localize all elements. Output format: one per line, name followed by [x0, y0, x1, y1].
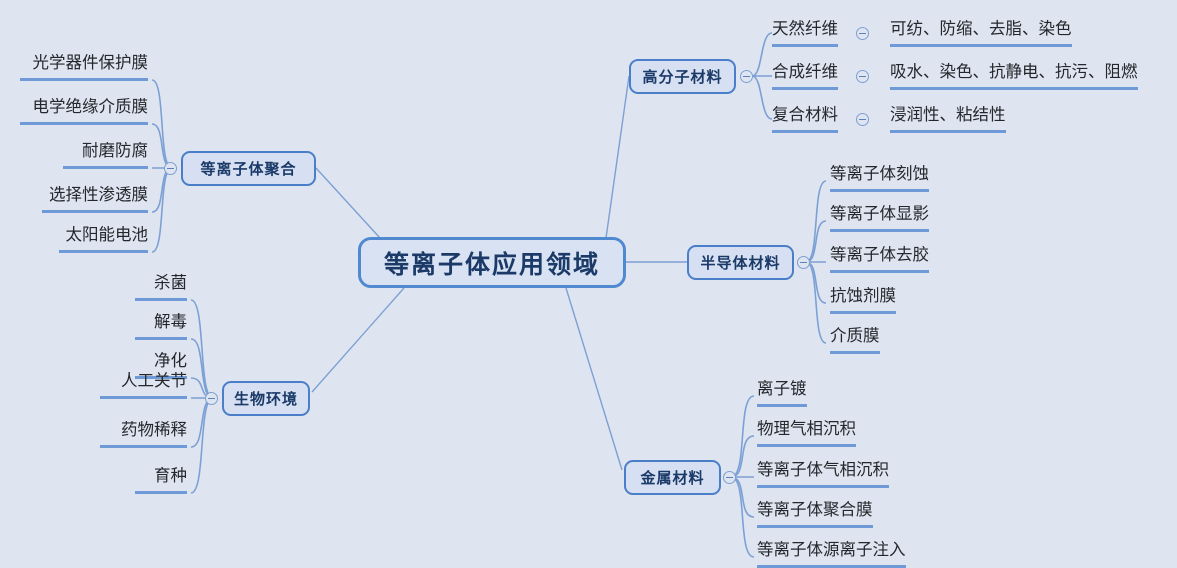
- leaf-ion-plating[interactable]: 离子镀: [757, 378, 807, 407]
- leaf-resist-film[interactable]: 抗蚀剂膜: [830, 285, 896, 314]
- leaf-label: 育种: [154, 467, 187, 485]
- leaf-label: 净化: [154, 352, 187, 370]
- leaf-plasma-developing[interactable]: 等离子体显影: [830, 203, 929, 232]
- leaf-pvd[interactable]: 物理气相沉积: [757, 418, 856, 447]
- leaf-wear-corrosion-resistance[interactable]: 耐磨防腐: [63, 140, 148, 169]
- leaf-synthetic-fiber-detail[interactable]: 吸水、染色、抗静电、抗污、阻燃: [890, 61, 1138, 90]
- leaf-label: 抗蚀剂膜: [830, 287, 896, 305]
- branch-node-plasma-polymerization[interactable]: 等离子体聚合: [181, 151, 316, 186]
- minus-circle-icon[interactable]: [856, 27, 869, 40]
- branch-node-bio-environment[interactable]: 生物环境: [222, 381, 310, 416]
- leaf-label: 合成纤维: [772, 63, 838, 81]
- branch-node-polymer[interactable]: 高分子材料: [629, 59, 736, 94]
- leaf-label: 药物稀释: [121, 421, 187, 439]
- minus-circle-icon[interactable]: [856, 113, 869, 126]
- leaf-label: 介质膜: [830, 327, 880, 345]
- branch-node-metal-label: 金属材料: [640, 467, 704, 488]
- leaf-label: 解毒: [154, 313, 187, 331]
- branch-node-semiconductor[interactable]: 半导体材料: [687, 245, 794, 280]
- leaf-plasma-cvd[interactable]: 等离子体气相沉积: [757, 459, 889, 488]
- mindmap-canvas: 等离子体应用领域 高分子材料 天然纤维 可纺、防缩、去脂、染色 合成纤维 吸水、…: [0, 0, 1177, 568]
- root-node-label: 等离子体应用领域: [384, 245, 600, 281]
- leaf-solar-cell[interactable]: 太阳能电池: [59, 224, 148, 253]
- leaf-label: 等离子体去胶: [830, 246, 929, 264]
- leaf-detail-label: 吸水、染色、抗静电、抗污、阻燃: [890, 63, 1138, 81]
- minus-circle-icon[interactable]: [856, 70, 869, 83]
- minus-circle-icon[interactable]: [740, 70, 753, 83]
- leaf-label: 等离子体气相沉积: [757, 461, 889, 479]
- minus-circle-icon[interactable]: [205, 392, 218, 405]
- leaf-label: 等离子体源离子注入: [757, 541, 906, 559]
- minus-circle-icon[interactable]: [723, 471, 736, 484]
- leaf-sterilization[interactable]: 杀菌: [135, 272, 187, 301]
- leaf-label: 离子镀: [757, 380, 807, 398]
- leaf-synthetic-fiber[interactable]: 合成纤维: [772, 61, 838, 90]
- leaf-plasma-stripping[interactable]: 等离子体去胶: [830, 244, 929, 273]
- minus-circle-icon[interactable]: [164, 162, 177, 175]
- leaf-label: 太阳能电池: [66, 226, 149, 244]
- leaf-artificial-joint[interactable]: 人工关节: [100, 370, 187, 399]
- minus-circle-icon[interactable]: [797, 256, 810, 269]
- leaf-composite-material[interactable]: 复合材料: [772, 104, 838, 133]
- branch-node-polymer-label: 高分子材料: [642, 66, 722, 87]
- leaf-plasma-polymer-film[interactable]: 等离子体聚合膜: [757, 499, 873, 528]
- branch-node-metal[interactable]: 金属材料: [624, 460, 721, 495]
- leaf-label: 光学器件保护膜: [33, 54, 149, 72]
- leaf-label: 物理气相沉积: [757, 420, 856, 438]
- leaf-label: 选择性渗透膜: [49, 186, 148, 204]
- leaf-plasma-source-ion-implantation[interactable]: 等离子体源离子注入: [757, 539, 906, 568]
- branch-node-plasma-polymerization-label: 等离子体聚合: [200, 158, 296, 179]
- leaf-composite-material-detail[interactable]: 浸润性、粘结性: [890, 104, 1006, 133]
- leaf-label: 人工关节: [121, 372, 187, 390]
- leaf-breeding[interactable]: 育种: [135, 465, 187, 494]
- root-node[interactable]: 等离子体应用领域: [358, 237, 626, 288]
- leaf-label: 电学绝缘介质膜: [33, 98, 149, 116]
- leaf-detail-label: 可纺、防缩、去脂、染色: [890, 20, 1072, 38]
- branch-node-semiconductor-label: 半导体材料: [700, 252, 780, 273]
- leaf-electrical-insulating-film[interactable]: 电学绝缘介质膜: [20, 96, 148, 125]
- leaf-label: 天然纤维: [772, 20, 838, 38]
- leaf-label: 复合材料: [772, 106, 838, 124]
- leaf-optical-protective-film[interactable]: 光学器件保护膜: [20, 52, 148, 81]
- leaf-plasma-etching[interactable]: 等离子体刻蚀: [830, 163, 929, 192]
- leaf-dielectric-film[interactable]: 介质膜: [830, 325, 880, 354]
- leaf-natural-fiber[interactable]: 天然纤维: [772, 18, 838, 47]
- leaf-label: 等离子体聚合膜: [757, 501, 873, 519]
- leaf-label: 等离子体刻蚀: [830, 165, 929, 183]
- leaf-natural-fiber-detail[interactable]: 可纺、防缩、去脂、染色: [890, 18, 1072, 47]
- leaf-label: 耐磨防腐: [82, 142, 148, 160]
- leaf-detoxification[interactable]: 解毒: [135, 311, 187, 340]
- leaf-detail-label: 浸润性、粘结性: [890, 106, 1006, 124]
- leaf-selective-permeable-film[interactable]: 选择性渗透膜: [42, 184, 148, 213]
- branch-node-bio-environment-label: 生物环境: [234, 388, 298, 409]
- leaf-label: 杀菌: [154, 274, 187, 292]
- leaf-label: 等离子体显影: [830, 205, 929, 223]
- leaf-drug-dilution[interactable]: 药物稀释: [100, 419, 187, 448]
